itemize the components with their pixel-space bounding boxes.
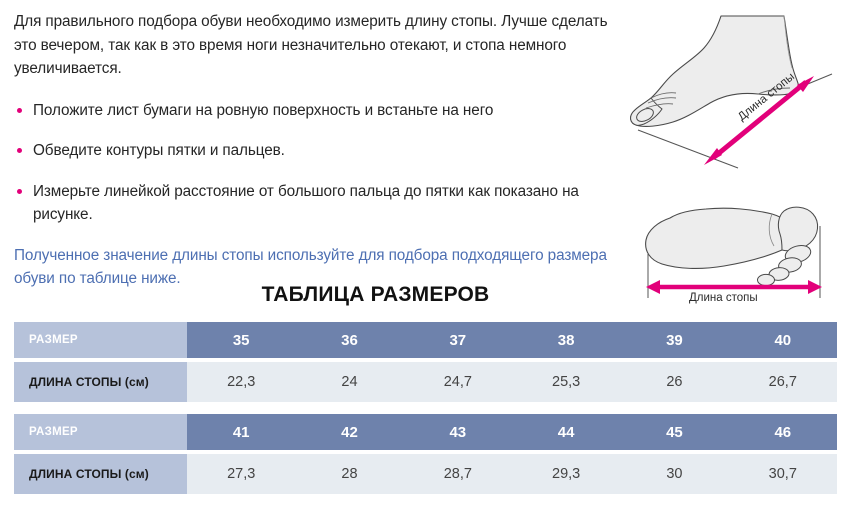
size-cell: 41: [187, 414, 295, 450]
size-cell: 40: [729, 322, 837, 358]
length-cell: 28,7: [404, 454, 512, 494]
size-cell: 43: [404, 414, 512, 450]
bullet-dot-icon: [17, 108, 22, 113]
size-cell: 36: [295, 322, 403, 358]
length-cell: 25,3: [512, 362, 620, 402]
size-cell: 35: [187, 322, 295, 358]
list-item: Измерьте линейкой расстояние от большого…: [14, 180, 614, 227]
table-row: ДЛИНА СТОПЫ (см) 27,3 28 28,7 29,3 30 30…: [14, 454, 837, 494]
length-cell: 26: [620, 362, 728, 402]
size-cell: 45: [620, 414, 728, 450]
list-item-text: Измерьте линейкой расстояние от большого…: [33, 183, 579, 224]
length-cell: 29,3: [512, 454, 620, 494]
table-row: РАЗМЕР 41 42 43 44 45 46: [14, 414, 837, 450]
instructions-column: Для правильного подбора обуви необходимо…: [14, 10, 614, 291]
size-cell: 39: [620, 322, 728, 358]
foot-side-view-illustration: Длина стопы: [618, 2, 851, 177]
list-item: Обведите контуры пятки и пальцев.: [14, 139, 614, 163]
intro-paragraph: Для правильного подбора обуви необходимо…: [14, 10, 614, 81]
length-cell: 26,7: [729, 362, 837, 402]
list-item: Положите лист бумаги на ровную поверхнос…: [14, 99, 614, 123]
length-cell: 22,3: [187, 362, 295, 402]
list-item-text: Обведите контуры пятки и пальцев.: [33, 142, 285, 159]
size-table-eu-41-46: РАЗМЕР 41 42 43 44 45 46 ДЛИНА СТОПЫ (см…: [14, 414, 837, 494]
size-cell: 46: [729, 414, 837, 450]
length-cell: 30: [620, 454, 728, 494]
table-row: ДЛИНА СТОПЫ (см) 22,3 24 24,7 25,3 26 26…: [14, 362, 837, 402]
bullet-dot-icon: [17, 189, 22, 194]
steps-list: Положите лист бумаги на ровную поверхнос…: [14, 99, 614, 227]
length-cell: 27,3: [187, 454, 295, 494]
size-guide-page: Для правильного подбора обуви необходимо…: [0, 0, 851, 509]
length-cell: 24,7: [404, 362, 512, 402]
size-cell: 37: [404, 322, 512, 358]
size-cell: 38: [512, 322, 620, 358]
row-label-size: РАЗМЕР: [14, 414, 187, 450]
length-cell: 24: [295, 362, 403, 402]
size-table-eu-35-40: РАЗМЕР 35 36 37 38 39 40 ДЛИНА СТОПЫ (см…: [14, 322, 837, 402]
bullet-dot-icon: [17, 148, 22, 153]
page-title: ТАБЛИЦА РАЗМЕРОВ: [14, 283, 737, 307]
row-label-length: ДЛИНА СТОПЫ (см): [14, 362, 187, 402]
row-label-length: ДЛИНА СТОПЫ (см): [14, 454, 187, 494]
row-label-size: РАЗМЕР: [14, 322, 187, 358]
size-cell: 44: [512, 414, 620, 450]
list-item-text: Положите лист бумаги на ровную поверхнос…: [33, 102, 493, 119]
size-cell: 42: [295, 414, 403, 450]
length-cell: 30,7: [729, 454, 837, 494]
table-row: РАЗМЕР 35 36 37 38 39 40: [14, 322, 837, 358]
length-cell: 28: [295, 454, 403, 494]
